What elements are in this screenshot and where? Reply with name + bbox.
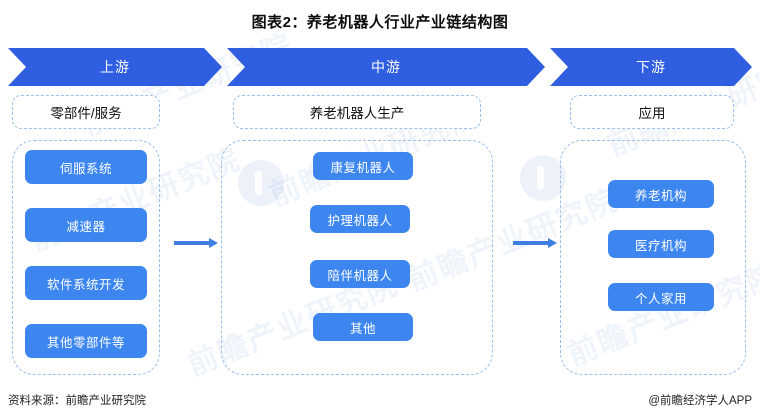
banner-segment-upstream[interactable]: 上游 [8,48,222,86]
node-midstream-1[interactable]: 康复机器人 [313,152,413,180]
node-label: 医疗机构 [635,235,687,254]
brand-note: @前瞻经济学人APP [648,392,752,408]
banner-segment-midstream[interactable]: 中游 [227,48,545,86]
column-header-upstream: 零部件/服务 [12,95,160,129]
banner-segment-label: 中游 [371,57,401,77]
column-header-downstream: 应用 [570,95,734,129]
banner-segment-label: 上游 [100,57,130,77]
source-note: 资料来源：前瞻产业研究院 [8,392,146,408]
column-header-label: 零部件/服务 [50,102,121,122]
node-upstream-1[interactable]: 伺服系统 [25,150,147,184]
banner-segment-label: 下游 [636,57,666,77]
node-label: 伺服系统 [60,158,112,177]
node-midstream-3[interactable]: 陪伴机器人 [310,260,410,288]
node-label: 陪伴机器人 [327,265,392,284]
value-chain-banner: 上游 中游 下游 [8,48,752,86]
node-label: 护理机器人 [327,210,392,229]
node-downstream-2[interactable]: 医疗机构 [608,230,714,258]
node-label: 其他 [350,318,376,337]
column-header-label: 养老机器人生产 [310,102,405,122]
diagram-canvas: 前瞻产业研究院 前瞻产业研究院 前瞻产业研究院 前瞻产业研究院 前瞻产业研究院 … [0,0,760,420]
node-label: 软件系统开发 [47,274,125,293]
node-midstream-4[interactable]: 其他 [313,313,413,341]
node-label: 个人家用 [635,288,687,307]
arrow-shaft [174,241,209,245]
node-label: 其他零部件等 [47,332,125,351]
arrow-head-icon [209,238,218,248]
node-label: 减速器 [66,216,105,235]
node-upstream-3[interactable]: 软件系统开发 [25,266,147,300]
node-downstream-3[interactable]: 个人家用 [608,283,714,311]
banner-segment-downstream[interactable]: 下游 [550,48,752,86]
connector-arrow-midstream-downstream [513,238,557,248]
node-label: 养老机构 [635,185,687,204]
chart-title: 图表2：养老机器人行业产业链结构图 [0,11,760,32]
node-upstream-2[interactable]: 减速器 [25,208,147,242]
node-downstream-1[interactable]: 养老机构 [608,180,714,208]
column-header-midstream: 养老机器人生产 [233,95,481,129]
column-header-label: 应用 [639,102,666,122]
node-upstream-4[interactable]: 其他零部件等 [25,324,147,358]
node-midstream-2[interactable]: 护理机器人 [310,205,410,233]
connector-arrow-upstream-midstream [174,238,218,248]
arrow-head-icon [548,238,557,248]
node-label: 康复机器人 [330,157,395,176]
arrow-shaft [513,241,548,245]
